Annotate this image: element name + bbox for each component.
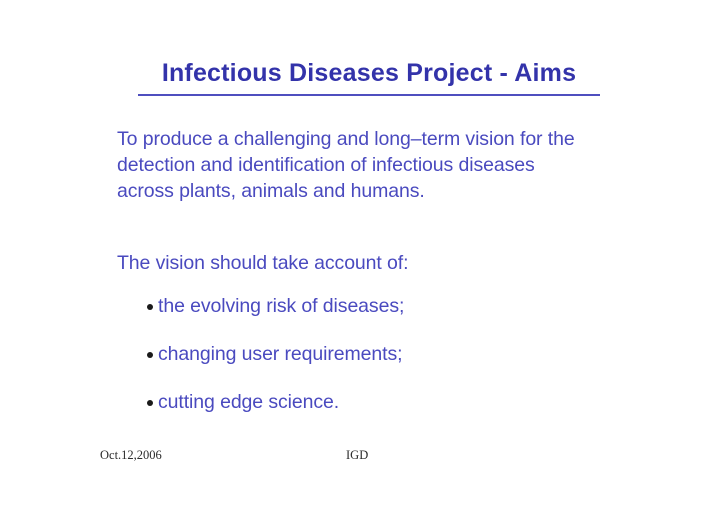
presentation-slide: Infectious Diseases Project - Aims To pr… (0, 0, 720, 509)
list-item-label: the evolving risk of diseases; (158, 295, 404, 317)
bullet-dot-icon (147, 304, 153, 310)
slide-title-block: Infectious Diseases Project - Aims (138, 58, 600, 96)
lead-in-text: The vision should take account of: (117, 250, 617, 276)
footer-date: Oct.12,2006 (100, 448, 162, 463)
slide-body: To produce a challenging and long–term v… (117, 126, 617, 415)
page-title: Infectious Diseases Project - Aims (138, 58, 600, 88)
list-item: changing user requirements; (117, 341, 617, 367)
bullet-dot-icon (147, 352, 153, 358)
list-item: the evolving risk of diseases; (117, 293, 617, 319)
list-item: cutting edge science. (117, 389, 617, 415)
intro-paragraph: To produce a challenging and long–term v… (117, 126, 587, 204)
slide-footer: Oct.12,2006 IGD (0, 448, 720, 468)
list-item-label: cutting edge science. (158, 391, 339, 413)
footer-organization: IGD (346, 448, 368, 463)
bullet-list: the evolving risk of diseases; changing … (117, 293, 617, 415)
bullet-dot-icon (147, 400, 153, 406)
title-divider (138, 94, 600, 96)
list-item-label: changing user requirements; (158, 343, 402, 365)
